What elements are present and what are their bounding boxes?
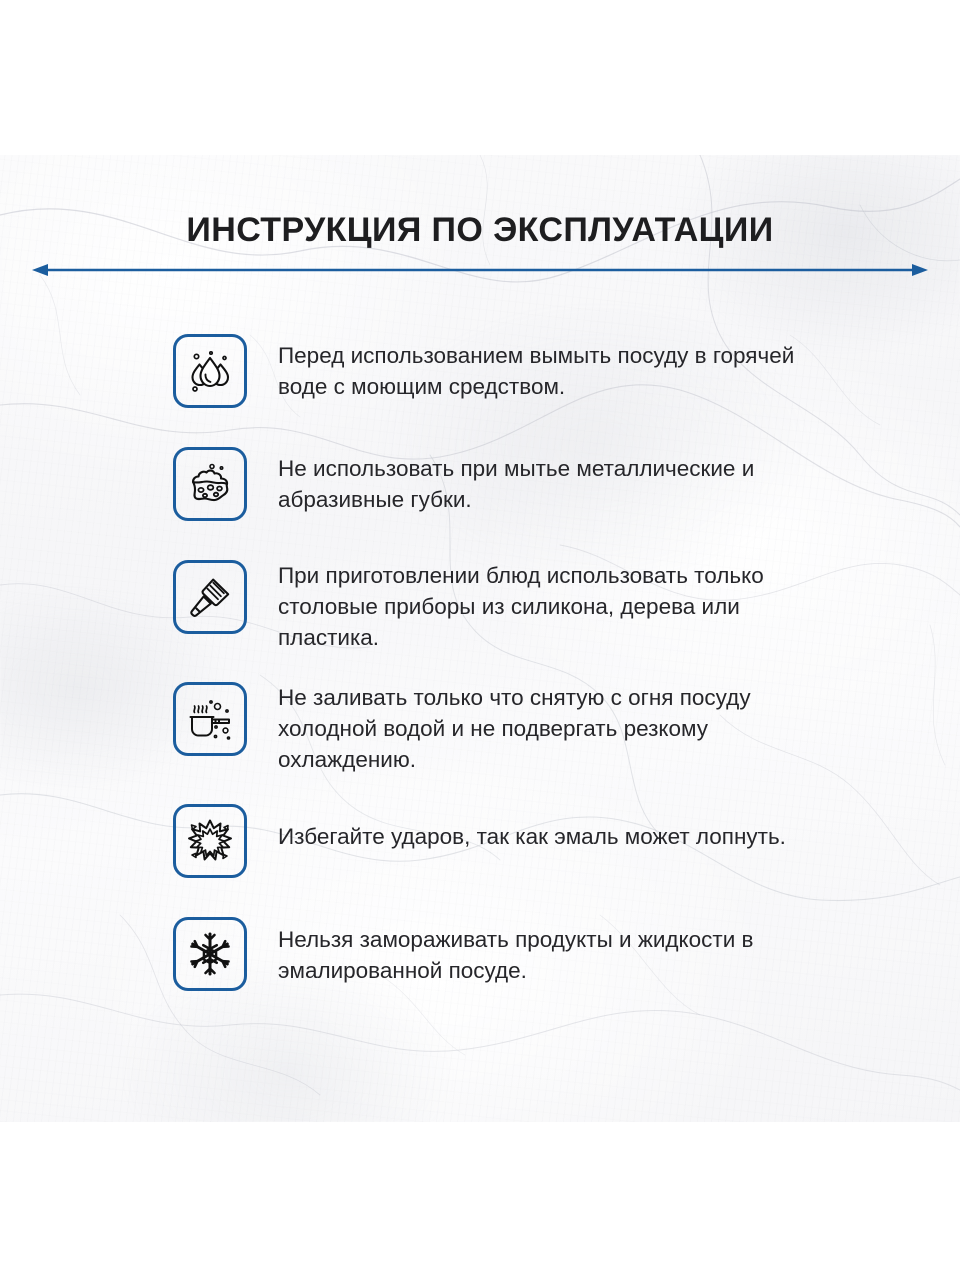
list-item: При приготовлении блюд использовать толь… <box>0 560 960 653</box>
instruction-card: ИНСТРУКЦИЯ ПО ЭКСПЛУАТАЦИИ <box>0 0 960 1280</box>
list-item-text: При приготовлении блюд использовать толь… <box>247 560 838 653</box>
list-item-text: Не заливать только что снятую с огня пос… <box>247 682 838 775</box>
arrow-divider <box>32 262 928 278</box>
list-item: Избегайте ударов, так как эмаль может ло… <box>0 804 960 888</box>
title-block: ИНСТРУКЦИЯ ПО ЭКСПЛУАТАЦИИ <box>0 212 960 249</box>
spatula-icon <box>184 571 236 623</box>
list-item-text: Нельзя замораживать продукты и жидкости … <box>247 917 838 986</box>
list-item-text: Избегайте ударов, так как эмаль может ло… <box>247 804 786 852</box>
list-item: Перед использованием вымыть посуду в гор… <box>0 334 960 418</box>
list-item-text: Перед использованием вымыть посуду в гор… <box>247 334 838 402</box>
icon-badge <box>173 447 247 521</box>
water-drops-icon <box>184 345 236 397</box>
instruction-list: Перед использованием вымыть посуду в гор… <box>0 334 960 1001</box>
icon-badge <box>173 560 247 634</box>
icon-badge <box>173 334 247 408</box>
sponge-icon <box>184 458 236 510</box>
hot-pot-steam-icon <box>184 693 236 745</box>
icon-badge <box>173 804 247 878</box>
snowflake-icon <box>184 928 236 980</box>
list-item: Не заливать только что снятую с огня пос… <box>0 682 960 775</box>
list-item: Нельзя замораживать продукты и жидкости … <box>0 917 960 1001</box>
impact-shatter-icon <box>184 815 236 867</box>
list-item: Не использовать при мытье металлические … <box>0 447 960 531</box>
icon-badge <box>173 917 247 991</box>
list-item-text: Не использовать при мытье металлические … <box>247 447 838 515</box>
page-title: ИНСТРУКЦИЯ ПО ЭКСПЛУАТАЦИИ <box>0 212 960 249</box>
icon-badge <box>173 682 247 756</box>
